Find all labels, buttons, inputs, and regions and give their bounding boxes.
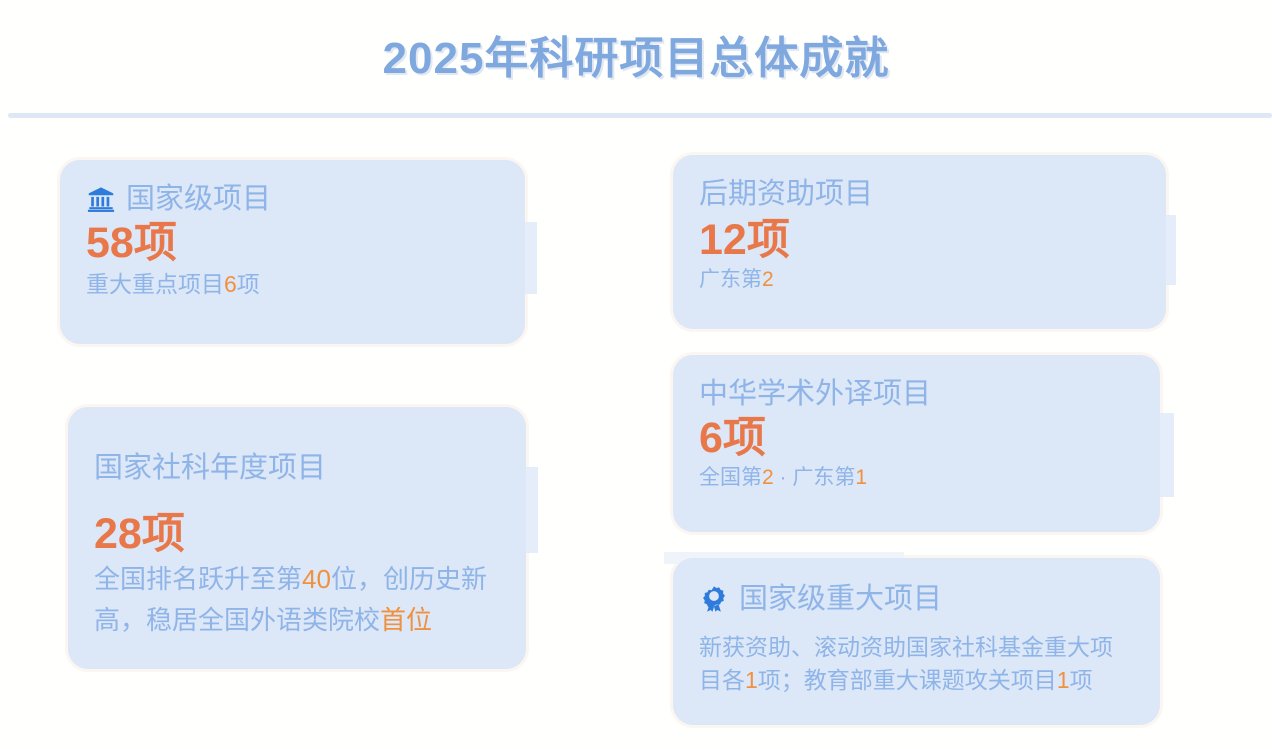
card-later-funding-projects[interactable]: 后期资助项目 12项 广东第2 <box>673 155 1166 329</box>
note-highlight: 6 <box>224 271 237 297</box>
note-text-suffix: 项 <box>237 271 260 297</box>
card-chinese-academic-translation-projects-value: 6项 <box>699 414 1134 463</box>
note-highlight-1: 2 <box>762 466 774 489</box>
card-edge-tab <box>1162 215 1176 285</box>
card-later-funding-projects-title: 后期资助项目 <box>699 177 873 212</box>
note-highlight-2: 1 <box>1057 667 1070 693</box>
page-title: 2025年科研项目总体成就 <box>0 22 1272 86</box>
card-chinese-academic-translation-projects[interactable]: 中华学术外译项目 6项 全国第2 · 广东第1 <box>673 355 1160 532</box>
note-highlight-2: 1 <box>855 466 867 489</box>
card-national-projects-header: 国家级项目 <box>86 182 499 217</box>
card-edge-tab <box>1156 413 1174 497</box>
award-rosette-icon <box>699 584 729 614</box>
card-edge-tab <box>664 552 904 564</box>
card-chinese-academic-translation-projects-header: 中华学术外译项目 <box>699 377 1134 412</box>
note-highlight: 2 <box>762 268 774 291</box>
card-national-major-projects-title: 国家级重大项目 <box>739 582 942 617</box>
page-header: 2025年科研项目总体成就 <box>0 0 1272 116</box>
card-national-major-projects[interactable]: 国家级重大项目 新获资助、滚动资助国家社科基金重大项目各1项；教育部重大课题攻关… <box>673 558 1160 725</box>
header-divider <box>8 113 1272 118</box>
card-annual-nssfc-projects-title: 国家社科年度项目 <box>94 451 326 486</box>
card-national-major-projects-note: 新获资助、滚动资助国家社科基金重大项目各1项；教育部重大课题攻关项目1项 <box>699 631 1134 698</box>
note-highlight-1: 1 <box>745 667 758 693</box>
card-later-funding-projects-value: 12项 <box>699 216 1140 265</box>
note-highlight-2: 首位 <box>380 605 432 635</box>
card-chinese-academic-translation-projects-title: 中华学术外译项目 <box>699 377 931 412</box>
card-national-projects[interactable]: 国家级项目 58项 重大重点项目6项 <box>60 160 525 344</box>
note-text: 广东第 <box>699 268 762 291</box>
note-text-2: · 广东第 <box>774 466 856 489</box>
card-national-projects-value: 58项 <box>86 219 499 268</box>
note-text-2: 项；教育部重大课题攻关项目 <box>758 667 1057 693</box>
card-national-major-projects-header: 国家级重大项目 <box>699 582 1134 617</box>
card-edge-tab <box>522 467 538 553</box>
classical-building-icon <box>86 184 116 214</box>
card-annual-nssfc-projects[interactable]: 国家社科年度项目 28项 全国排名跃升至第40位，创历史新高，稳居全国外语类院校… <box>68 407 526 669</box>
card-national-projects-note: 重大重点项目6项 <box>86 268 499 301</box>
note-text-1: 全国第 <box>699 466 762 489</box>
card-later-funding-projects-note: 广东第2 <box>699 265 1140 295</box>
card-edge-tab <box>521 222 537 294</box>
note-text-3: 项 <box>1070 667 1093 693</box>
card-later-funding-projects-header: 后期资助项目 <box>699 177 1140 212</box>
card-chinese-academic-translation-projects-note: 全国第2 · 广东第1 <box>699 463 1134 493</box>
card-annual-nssfc-projects-note: 全国排名跃升至第40位，创历史新高，稳居全国外语类院校首位 <box>94 559 500 640</box>
card-national-projects-title: 国家级项目 <box>126 182 271 217</box>
card-annual-nssfc-projects-header: 国家社科年度项目 <box>94 451 500 486</box>
note-text-1: 全国排名跃升至第 <box>94 564 302 594</box>
card-annual-nssfc-projects-value: 28项 <box>94 510 500 559</box>
note-text: 重大重点项目 <box>86 271 224 297</box>
note-highlight-1: 40 <box>302 564 331 594</box>
